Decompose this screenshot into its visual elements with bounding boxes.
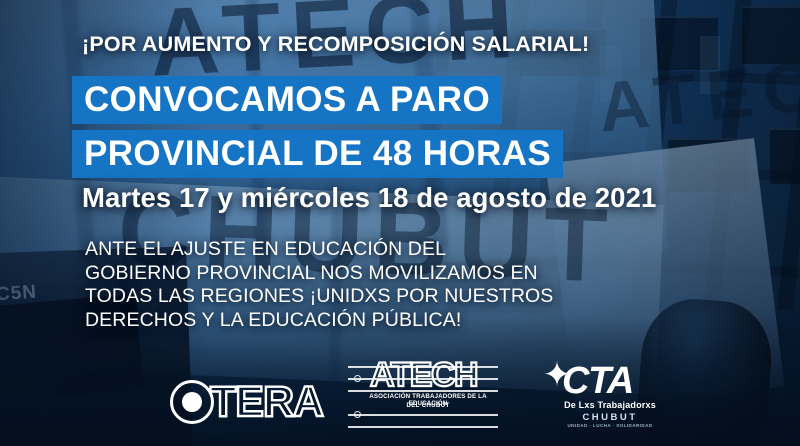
poster-dateline: Martes 17 y miércoles 18 de agosto de 20…	[82, 182, 656, 214]
staff-line	[348, 426, 498, 428]
body-line: ANTE EL AJUSTE EN EDUCACIÓN DEL	[85, 238, 553, 262]
cta-subtitle-line-1: De Lxs Trabajadorxs	[540, 400, 680, 410]
headline-line-2: PROVINCIAL DE 48 HORAS	[72, 130, 563, 178]
body-line: DERECHOS Y LA EDUCACIÓN PÚBLICA!	[85, 309, 553, 333]
atech-logo: ATECH ASOCIACIÓN TRABAJADORES DE LA EDUC…	[348, 360, 498, 434]
cta-logo: ✦ CTA De Lxs Trabajadorxs CHUBUT UNIDAD …	[540, 362, 680, 432]
headline-line-1: CONVOCAMOS A PARO	[72, 76, 502, 124]
ctera-logo: TERA	[170, 380, 323, 424]
poster-content: ¡POR AUMENTO Y RECOMPOSICIÓN SALARIAL! C…	[0, 0, 800, 446]
atech-subtitle-line-2: DEL CHUBUT	[362, 402, 494, 409]
ctera-wordmark: TERA	[210, 381, 323, 424]
atech-wordmark: ATECH	[370, 358, 477, 392]
ctera-circle-icon	[170, 380, 214, 424]
staff-line	[348, 414, 498, 416]
poster-body-text: ANTE EL AJUSTE EN EDUCACIÓN DEL GOBIERNO…	[85, 238, 553, 332]
note-icon	[354, 411, 361, 418]
cta-subtitle-line-3: UNIDAD · LUCHA · SOLIDARIDAD	[540, 423, 680, 428]
body-line: TODAS LAS REGIONES ¡UNIDXS POR NUESTROS	[85, 285, 553, 309]
body-line: GOBIERNO PROVINCIAL NOS MOVILIZAMOS EN	[85, 262, 553, 286]
poster-kicker: ¡POR AUMENTO Y RECOMPOSICIÓN SALARIAL!	[82, 32, 589, 57]
cta-subtitle-line-2: CHUBUT	[540, 412, 680, 423]
note-icon	[354, 375, 361, 382]
strike-announcement-poster: ATECH CHUBUT ATECH C5N ¡POR AUMENTO Y RE…	[0, 0, 800, 446]
cta-wordmark: CTA	[562, 362, 633, 400]
logo-strip: TERA ATECH ASOCIACIÓN TRABAJADORES DE LA…	[0, 350, 800, 446]
